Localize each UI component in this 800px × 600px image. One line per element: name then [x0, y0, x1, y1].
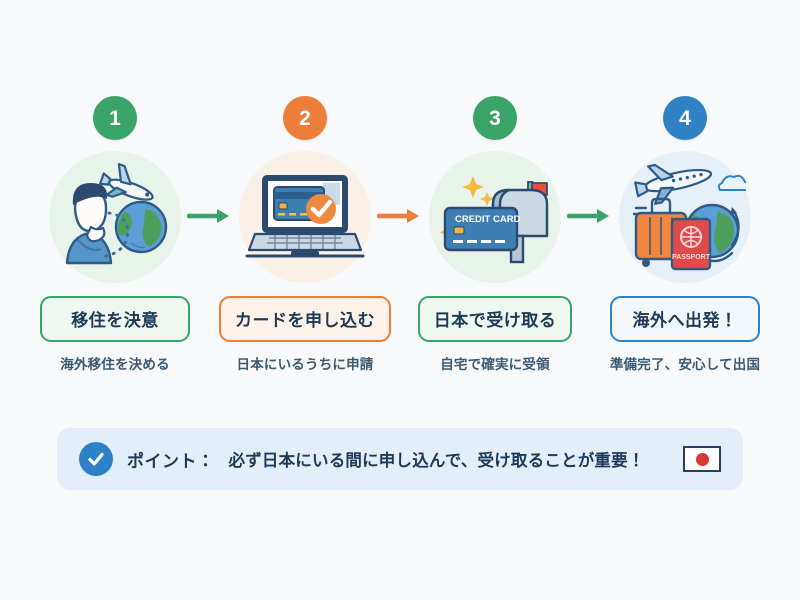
- key-point-banner: ポイント： 必ず日本にいる間に申し込んで、受け取ることが重要！: [57, 428, 743, 490]
- check-circle-icon: [79, 442, 113, 476]
- step-pill-2: カードを申し込む: [219, 296, 391, 342]
- japan-flag-icon: [683, 446, 721, 472]
- step-illustration-1: [49, 151, 181, 283]
- step-number-badge-4: 4: [663, 96, 707, 140]
- suitcase-passport-globe-airplane-icon: PASSPORT: [624, 161, 746, 273]
- step-caption-2: 日本にいるうちに申請: [237, 353, 374, 373]
- step-illustration-3: CREDIT CARD: [429, 151, 561, 283]
- step-caption-4: 準備完了、安心して出国: [610, 353, 760, 373]
- step-number-badge-2: 2: [283, 96, 327, 140]
- step-4: 4: [590, 96, 780, 373]
- infographic-board: 1: [0, 0, 800, 600]
- credit-card-text: CREDIT CARD: [455, 214, 521, 225]
- flag-red-circle: [696, 453, 709, 466]
- laptop-credit-card-check-icon: [245, 164, 365, 270]
- step-pill-1: 移住を決意: [40, 296, 190, 342]
- step-number-badge-3: 3: [473, 96, 517, 140]
- step-2: 2: [210, 96, 400, 373]
- step-1: 1: [20, 96, 210, 373]
- step-pill-3: 日本で受け取る: [418, 296, 573, 342]
- thinking-person-globe-airplane-icon: [55, 161, 175, 273]
- steps-row: 1: [0, 96, 800, 373]
- step-3: 3 C: [400, 96, 590, 373]
- step-illustration-2: [239, 151, 371, 283]
- banner-label: ポイント：: [127, 447, 215, 472]
- step-caption-1: 海外移住を決める: [60, 353, 170, 373]
- mailbox-credit-card-sparkle-icon: CREDIT CARD: [435, 164, 555, 270]
- step-caption-3: 自宅で確実に受領: [440, 353, 550, 373]
- passport-text: PASSPORT: [672, 254, 711, 261]
- step-pill-4: 海外へ出発！: [610, 296, 760, 342]
- step-number-badge-1: 1: [93, 96, 137, 140]
- step-illustration-4: PASSPORT: [619, 151, 751, 283]
- banner-text: 必ず日本にいる間に申し込んで、受け取ることが重要！: [229, 447, 670, 471]
